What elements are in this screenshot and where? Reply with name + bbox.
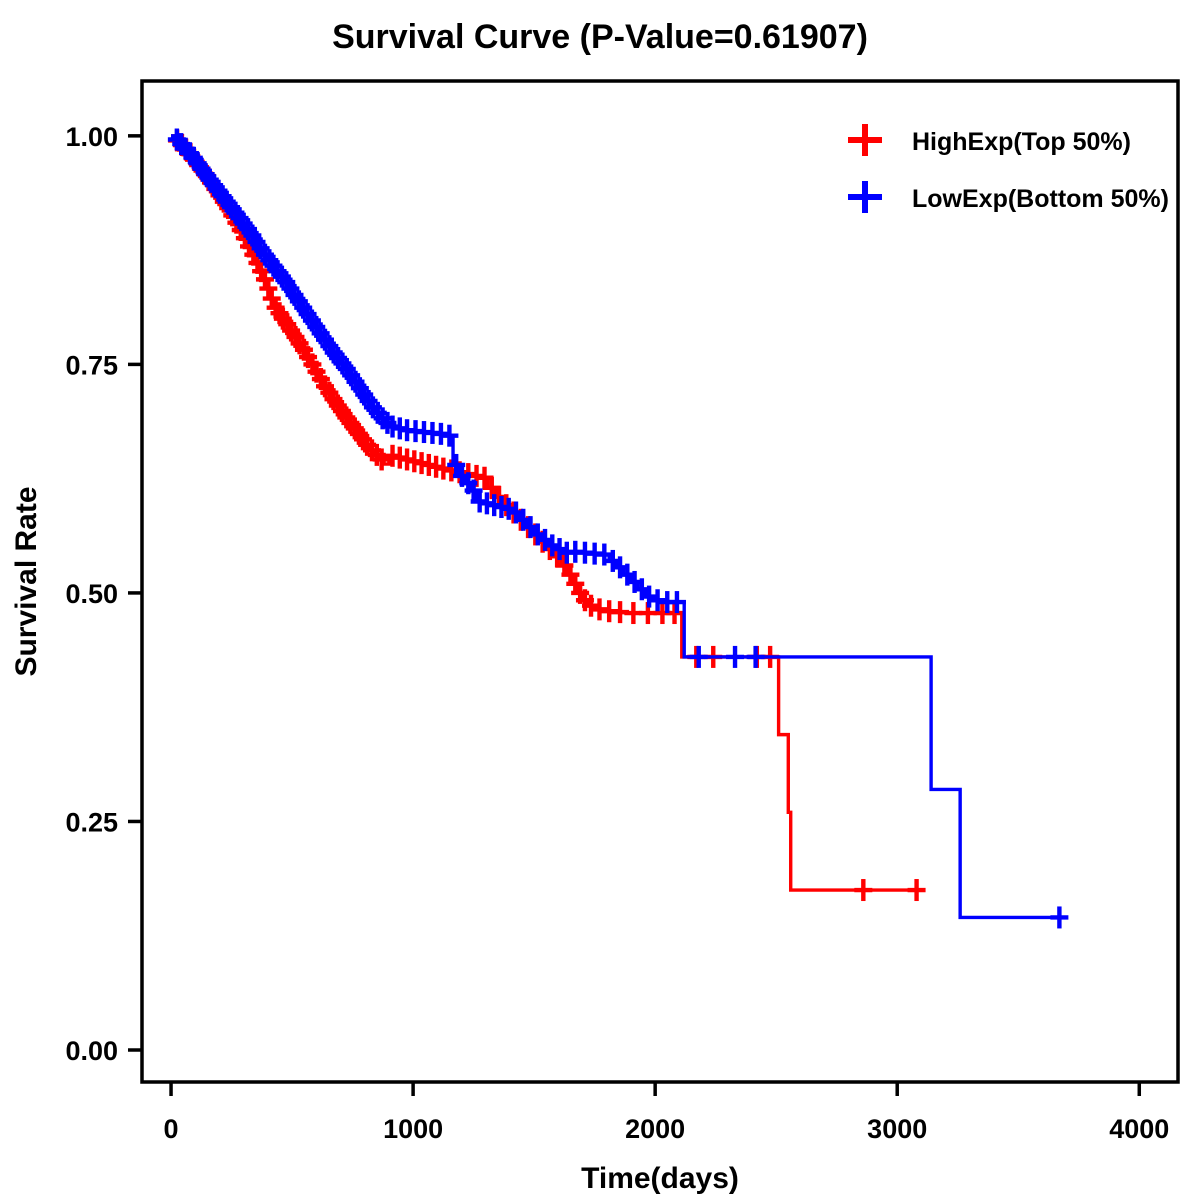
curve-low-exp: [171, 136, 1062, 918]
plot-frame: [142, 81, 1178, 1082]
curve-high-exp: [171, 136, 919, 890]
censor-marks-low-exp: [168, 129, 1069, 929]
x-tick-label-3000: 3000: [867, 1114, 927, 1144]
y-tick-label-0: 0.00: [65, 1036, 118, 1066]
y-tick-label-0.75: 0.75: [65, 350, 118, 380]
survival-curve-figure: Survival Curve (P-Value=0.61907) 0100020…: [0, 0, 1200, 1200]
x-tick-label-2000: 2000: [625, 1114, 685, 1144]
y-tick-label-0.25: 0.25: [65, 807, 118, 837]
plot-area: 010002000300040000.000.250.500.751.00Tim…: [0, 0, 1200, 1200]
x-axis-label: Time(days): [581, 1162, 739, 1195]
y-tick-label-1: 1.00: [65, 122, 118, 152]
y-axis-label: Survival Rate: [10, 486, 43, 676]
legend-label-1: LowExp(Bottom 50%): [912, 185, 1169, 213]
x-tick-label-1000: 1000: [383, 1114, 443, 1144]
censor-marks-high-exp: [168, 129, 925, 901]
legend-label-0: HighExp(Top 50%): [912, 128, 1131, 156]
y-tick-label-0.5: 0.50: [65, 579, 118, 609]
x-tick-label-0: 0: [164, 1114, 179, 1144]
survival-plot-svg: 010002000300040000.000.250.500.751.00Tim…: [0, 0, 1200, 1200]
x-tick-label-4000: 4000: [1109, 1114, 1169, 1144]
